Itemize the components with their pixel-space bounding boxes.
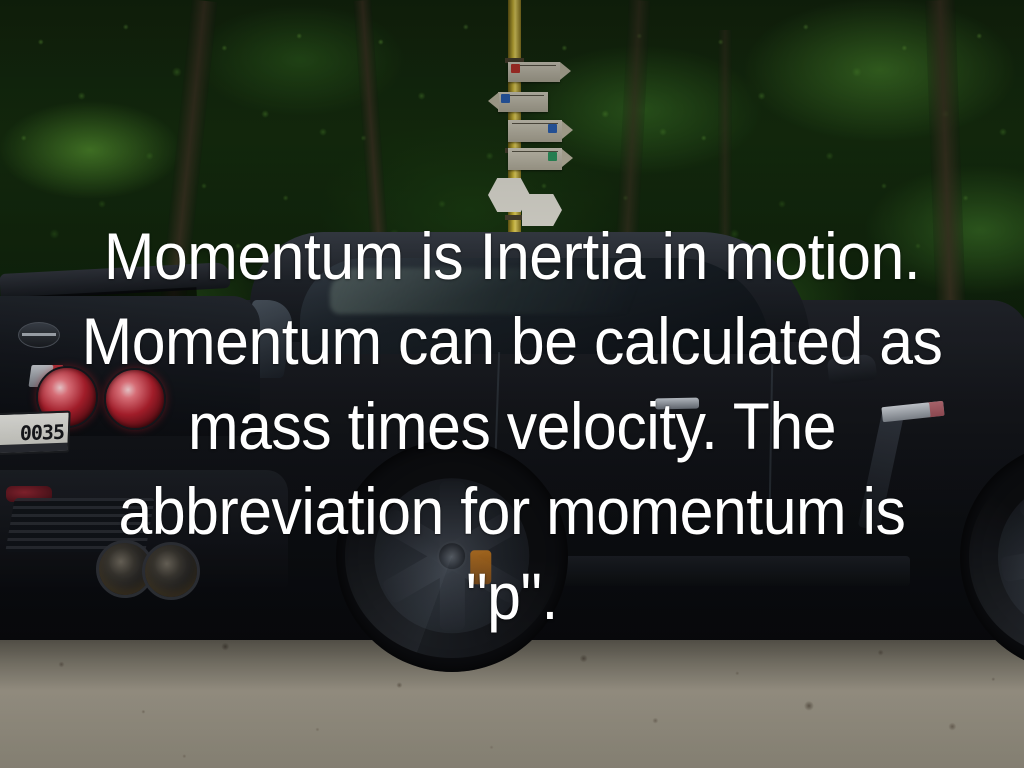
caption-paragraph-1: Momentum is Inertia in motion. Momentum …	[41, 214, 983, 639]
presentation-slide: 0035	[0, 0, 1024, 768]
slide-caption: Momentum is Inertia in motion. Momentum …	[41, 44, 983, 768]
